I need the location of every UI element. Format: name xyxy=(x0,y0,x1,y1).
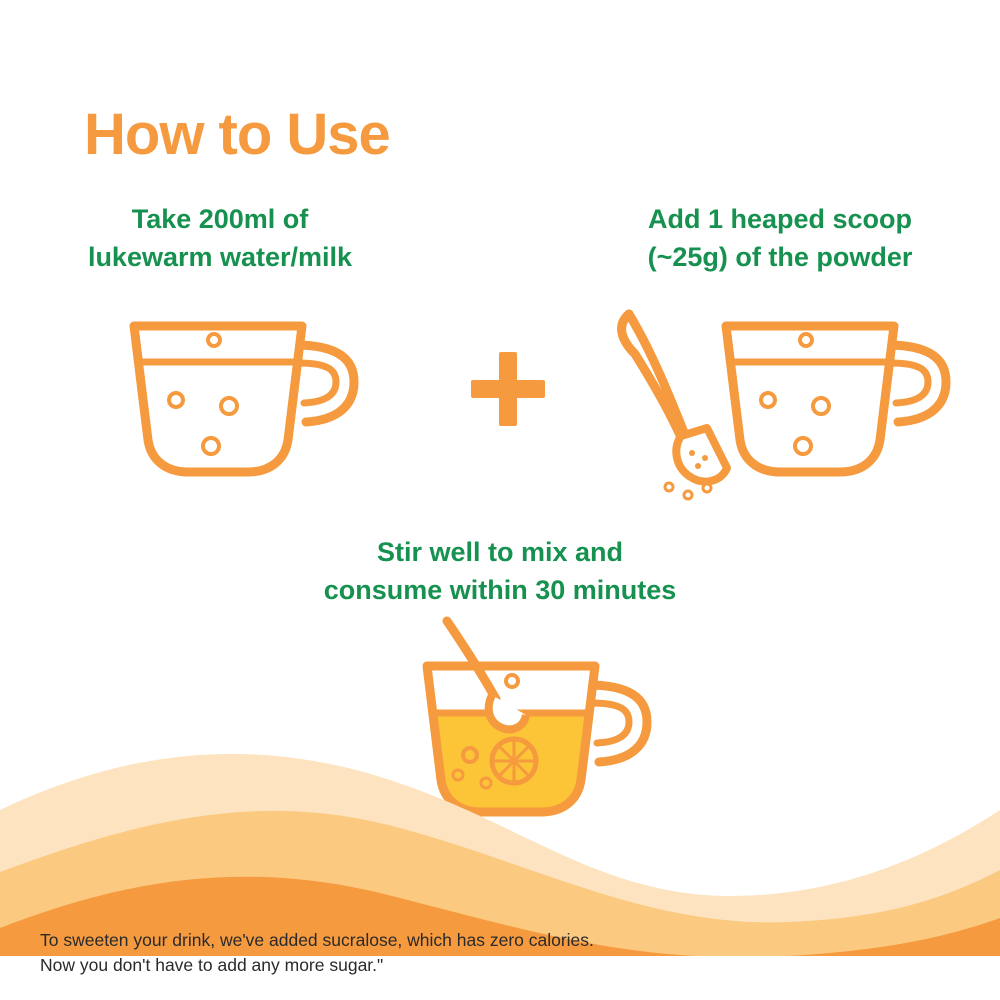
step-2-caption-line-1: Add 1 heaped scoop xyxy=(648,204,912,234)
cup-with-water-icon xyxy=(110,300,370,505)
step-1-caption-line-1: Take 200ml of xyxy=(132,204,309,234)
step-2-caption-line-2: (~25g) of the powder xyxy=(648,242,913,272)
scoop-and-cup-icon xyxy=(595,290,965,525)
page-title: How to Use xyxy=(84,105,390,166)
plus-icon-vertical-bar xyxy=(499,352,517,426)
step-1-caption: Take 200ml of lukewarm water/milk xyxy=(20,200,420,277)
step-1-caption-line-2: lukewarm water/milk xyxy=(88,242,352,272)
step-2-caption: Add 1 heaped scoop (~25g) of the powder xyxy=(580,200,980,277)
step-3-caption: Stir well to mix and consume within 30 m… xyxy=(250,533,750,610)
how-to-use-infographic: How to Use Take 200ml of lukewarm water/… xyxy=(0,0,1000,1000)
footer-note-line-2: Now you don't have to add any more sugar… xyxy=(40,953,900,978)
step-3-caption-line-1: Stir well to mix and xyxy=(377,537,623,567)
footer-note: To sweeten your drink, we've added sucra… xyxy=(40,928,900,979)
plus-icon xyxy=(471,352,545,426)
step-3-caption-line-2: consume within 30 minutes xyxy=(324,575,677,605)
footer-note-line-1: To sweeten your drink, we've added sucra… xyxy=(40,928,900,953)
